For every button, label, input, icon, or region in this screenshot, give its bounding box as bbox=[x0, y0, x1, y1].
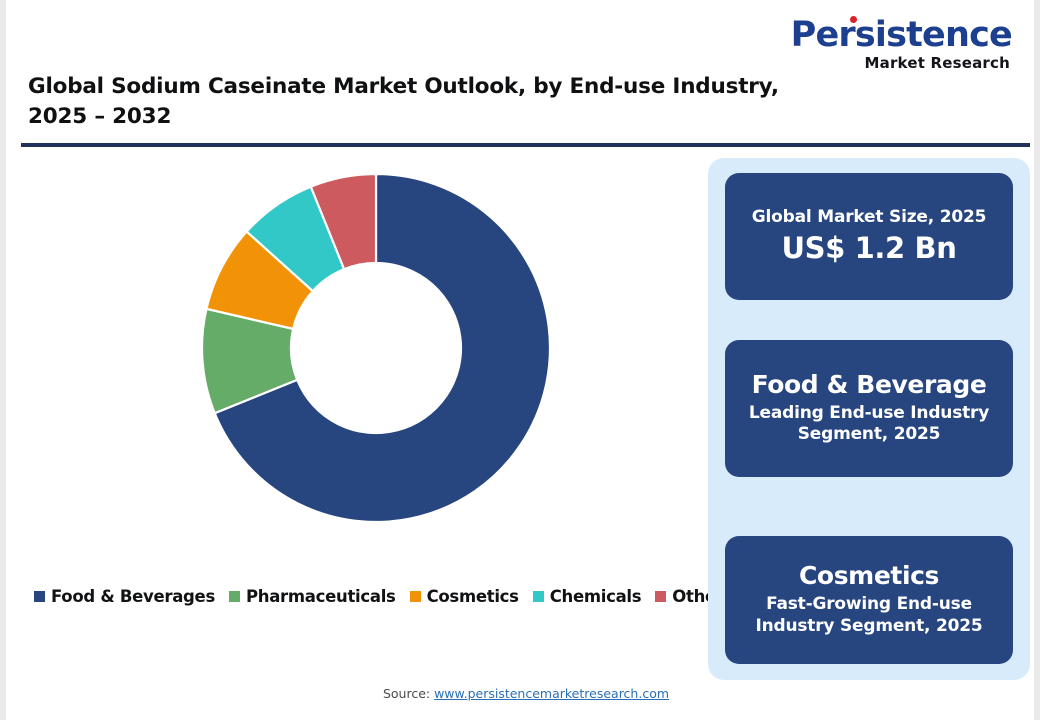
brand-logo-tagline: Market Research bbox=[772, 56, 1010, 71]
donut-chart bbox=[16, 155, 706, 570]
brand-logo: Persistence Market Research bbox=[772, 18, 1012, 71]
card-fastest-growing-segment: Cosmetics Fast-Growing End-use Industry … bbox=[725, 536, 1013, 664]
card-fastest-growing-line2: Industry Segment, 2025 bbox=[755, 616, 982, 638]
legend-item[interactable]: Cosmetics bbox=[410, 587, 519, 606]
card-market-size-caption: Global Market Size, 2025 bbox=[752, 207, 986, 229]
legend-swatch-icon bbox=[229, 591, 240, 602]
legend-swatch-icon bbox=[533, 591, 544, 602]
legend-item-label: Pharmaceuticals bbox=[246, 587, 396, 606]
legend-swatch-icon bbox=[655, 591, 666, 602]
card-global-market-size: Global Market Size, 2025 US$ 1.2 Bn bbox=[725, 173, 1013, 300]
brand-logo-wordmark: Persistence bbox=[791, 18, 1012, 53]
card-leading-segment-line1: Leading End-use Industry bbox=[749, 403, 989, 425]
legend-swatch-icon bbox=[410, 591, 421, 602]
source-line: Source: www.persistencemarketresearch.co… bbox=[6, 686, 1040, 701]
header-divider bbox=[21, 143, 1030, 147]
source-url-link[interactable]: www.persistencemarketresearch.com bbox=[434, 686, 669, 701]
legend-item[interactable]: Food & Beverages bbox=[34, 587, 215, 606]
infographic-page: Persistence Market Research Global Sodiu… bbox=[0, 0, 1040, 720]
card-leading-segment-heading: Food & Beverage bbox=[752, 371, 987, 400]
donut-chart-svg bbox=[16, 155, 706, 570]
donut-slice-group bbox=[202, 174, 550, 522]
card-leading-segment-line2: Segment, 2025 bbox=[798, 424, 941, 446]
legend-item-label: Cosmetics bbox=[427, 587, 519, 606]
highlights-panel: Global Market Size, 2025 US$ 1.2 Bn Food… bbox=[708, 158, 1030, 680]
card-fastest-growing-heading: Cosmetics bbox=[799, 562, 939, 591]
legend-item-label: Chemicals bbox=[550, 587, 642, 606]
source-label: Source: bbox=[383, 686, 434, 701]
page-title: Global Sodium Caseinate Market Outlook, … bbox=[28, 72, 788, 131]
legend-item[interactable]: Chemicals bbox=[533, 587, 642, 606]
brand-logo-dot-icon bbox=[850, 16, 857, 23]
card-market-size-value: US$ 1.2 Bn bbox=[782, 231, 957, 266]
legend-swatch-icon bbox=[34, 591, 45, 602]
card-fastest-growing-line1: Fast-Growing End-use bbox=[766, 594, 972, 616]
chart-legend: Food & BeveragesPharmaceuticalsCosmetics… bbox=[34, 583, 714, 609]
card-leading-segment: Food & Beverage Leading End-use Industry… bbox=[725, 340, 1013, 477]
legend-item-label: Food & Beverages bbox=[51, 587, 215, 606]
legend-item[interactable]: Pharmaceuticals bbox=[229, 587, 396, 606]
